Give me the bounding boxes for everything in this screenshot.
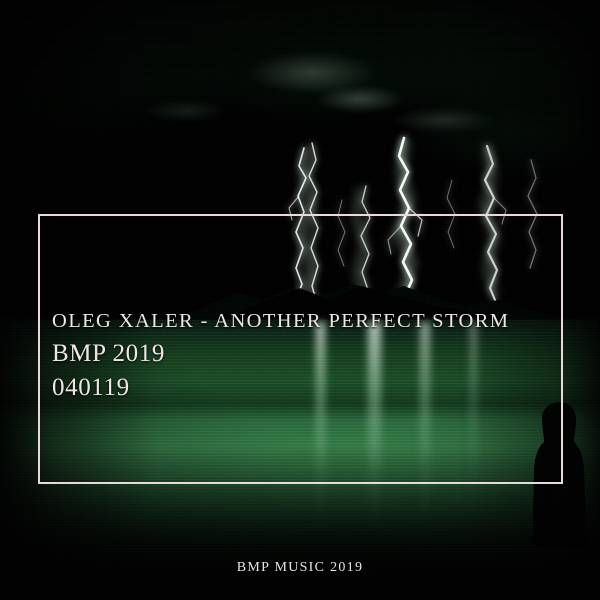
catalog-number: 040119 [52,372,509,404]
album-title: OLEG XALER - ANOTHER PERFECT STORM [52,308,509,336]
label-footer: BMP MUSIC 2019 [0,560,600,576]
title-block: OLEG XALER - ANOTHER PERFECT STORM BMP 2… [52,308,509,404]
catalog-label: BMP 2019 [52,338,509,370]
album-cover: OLEG XALER - ANOTHER PERFECT STORM BMP 2… [0,0,600,600]
